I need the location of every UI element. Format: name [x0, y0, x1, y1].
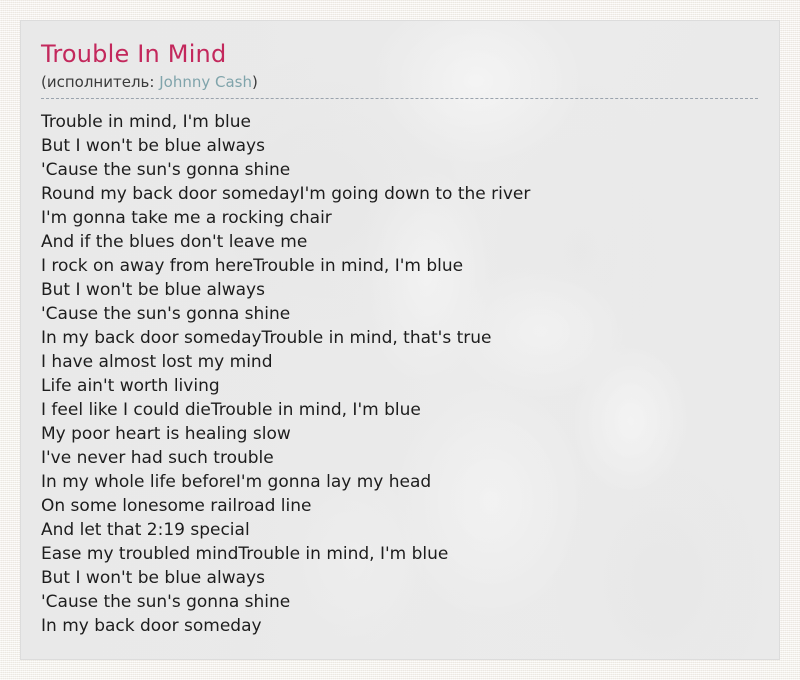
lyric-line: I have almost lost my mind: [41, 350, 759, 374]
lyric-line: But I won't be blue always: [41, 134, 759, 158]
lyric-line: I've never had such trouble: [41, 446, 759, 470]
lyric-line: 'Cause the sun's gonna shine: [41, 590, 759, 614]
lyrics-text: Trouble in mind, I'm blueBut I won't be …: [41, 110, 759, 638]
panel-content: Trouble In Mind (исполнитель: Johnny Cas…: [21, 21, 779, 638]
header-divider: [41, 98, 758, 99]
lyric-line: Round my back door somedayI'm going down…: [41, 182, 759, 206]
lyric-line: My poor heart is healing slow: [41, 422, 759, 446]
artist-line: (исполнитель: Johnny Cash): [41, 72, 759, 92]
page-frame: Trouble In Mind (исполнитель: Johnny Cas…: [0, 0, 800, 680]
artist-paren-close: ): [252, 73, 258, 91]
lyric-line: In my whole life beforeI'm gonna lay my …: [41, 470, 759, 494]
artist-label: (исполнитель:: [41, 73, 154, 91]
lyric-line: But I won't be blue always: [41, 566, 759, 590]
lyric-line: In my back door someday: [41, 614, 759, 638]
lyrics-panel: Trouble In Mind (исполнитель: Johnny Cas…: [20, 20, 780, 660]
lyric-line: On some lonesome railroad line: [41, 494, 759, 518]
lyric-line: But I won't be blue always: [41, 278, 759, 302]
page-title: Trouble In Mind: [41, 39, 759, 69]
lyric-line: Ease my troubled mindTrouble in mind, I'…: [41, 542, 759, 566]
lyric-line: Life ain't worth living: [41, 374, 759, 398]
lyric-line: In my back door somedayTrouble in mind, …: [41, 326, 759, 350]
lyric-line: I feel like I could dieTrouble in mind, …: [41, 398, 759, 422]
lyric-line: Trouble in mind, I'm blue: [41, 110, 759, 134]
lyric-line: I'm gonna take me a rocking chair: [41, 206, 759, 230]
lyric-line: 'Cause the sun's gonna shine: [41, 302, 759, 326]
artist-link[interactable]: Johnny Cash: [159, 73, 252, 91]
lyric-line: And let that 2:19 special: [41, 518, 759, 542]
lyric-line: 'Cause the sun's gonna shine: [41, 158, 759, 182]
lyric-line: And if the blues don't leave me: [41, 230, 759, 254]
lyric-line: I rock on away from hereTrouble in mind,…: [41, 254, 759, 278]
